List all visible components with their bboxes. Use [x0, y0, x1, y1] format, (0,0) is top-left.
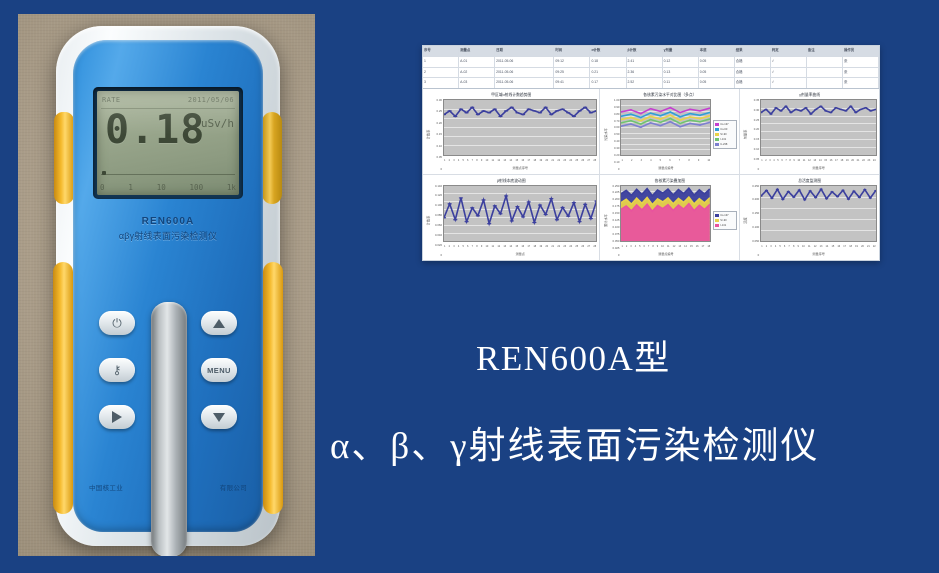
x-tick: 8 [476, 242, 477, 251]
data-point [640, 120, 642, 122]
data-point [839, 109, 842, 111]
data-point [487, 112, 491, 114]
table-cell [807, 78, 843, 88]
up-button[interactable] [201, 311, 237, 335]
table-header-cell: 判定 [771, 46, 807, 56]
legend-swatch [715, 123, 719, 126]
chart-x-ticks: 123456789101112131415161718 [620, 242, 711, 251]
data-point [829, 112, 832, 114]
data-point [630, 117, 632, 119]
key-icon: ⚷ [113, 364, 122, 376]
x-tick: 4 [773, 156, 774, 165]
y-tick: 0.140 [435, 185, 442, 188]
table-cell: 09:25 [554, 68, 590, 78]
data-point [498, 116, 502, 118]
x-tick: 12 [497, 242, 500, 251]
y-axis-text: 累计水平 [603, 214, 608, 227]
y-tick: 0.30 [437, 99, 442, 102]
data-point [555, 218, 559, 220]
x-tick: 6 [784, 242, 785, 251]
x-tick: 19 [539, 156, 542, 165]
x-tick: 4 [458, 156, 459, 165]
x-tick: 16 [521, 242, 524, 251]
y-tick: 0.15 [437, 133, 442, 136]
x-tick: 17 [527, 242, 530, 251]
data-point [679, 126, 681, 128]
x-tick: 14 [509, 242, 512, 251]
y-tick: 0.35 [754, 99, 759, 102]
x-tick: 2 [626, 242, 627, 251]
data-point [650, 112, 652, 114]
x-tick: 18 [707, 242, 710, 251]
data-point [640, 113, 642, 115]
y-tick: 1.00 [614, 99, 619, 102]
legend-swatch [715, 128, 719, 131]
y-tick: 0.60 [614, 126, 619, 129]
lcd-tick: 1 [128, 183, 133, 192]
data-point [660, 125, 662, 127]
x-tick: 28 [593, 242, 596, 251]
data-point [787, 190, 790, 192]
data-point [785, 105, 788, 107]
chart-x-ticks: 1234567891011121314151617181920212223242… [443, 242, 597, 251]
y-tick: 0.200 [612, 198, 619, 201]
data-point [583, 107, 587, 109]
table-header-cell: γ剂量 [663, 46, 699, 56]
data-point [566, 112, 570, 114]
data-point [815, 109, 818, 111]
x-tick: 18 [849, 242, 852, 251]
data-point [650, 116, 652, 118]
data-point [476, 214, 480, 216]
data-point [859, 109, 862, 111]
legend-label: Sr-90 [720, 133, 726, 136]
x-tick: 8 [688, 156, 689, 165]
data-point [555, 110, 559, 112]
key-button[interactable]: ⚷ [99, 358, 135, 382]
data-point [470, 107, 474, 109]
data-point [853, 190, 856, 192]
y-tick: 0.100 [612, 226, 619, 229]
data-point [679, 119, 681, 121]
device-branding: REN600A αβγ射线表面污染检测仪 [73, 216, 263, 242]
data-point [854, 112, 857, 114]
legend-label: Sr-90 [720, 219, 726, 222]
lcd-scale-ticks: 0 1 10 100 1k [100, 182, 236, 193]
data-point [660, 115, 662, 117]
x-tick: 12 [497, 156, 500, 165]
data-point [699, 124, 701, 126]
y-tick: 0.30 [754, 109, 759, 112]
y-tick: 0.175 [612, 205, 619, 208]
y-tick: 0 [618, 168, 620, 171]
data-point [699, 121, 701, 123]
data-point [572, 116, 576, 118]
x-tick: 17 [527, 156, 530, 165]
x-tick: 4 [458, 242, 459, 251]
data-point [459, 197, 463, 199]
y-tick: 0.060 [435, 224, 442, 227]
x-tick: 3 [453, 242, 454, 251]
data-point [459, 108, 463, 110]
x-tick: 11 [808, 242, 811, 251]
y-tick: 0.025 [612, 247, 619, 250]
x-tick: 1 [444, 242, 445, 251]
data-point [689, 113, 691, 115]
table-cell: 2.41 [627, 57, 663, 67]
data-point [820, 188, 823, 190]
data-point [538, 204, 542, 206]
x-tick: 15 [690, 242, 693, 251]
data-point [650, 108, 652, 110]
x-tick: 23 [867, 156, 870, 165]
data-point [527, 108, 531, 110]
y-tick: 0.080 [435, 214, 442, 217]
table-cell: 合格 [735, 57, 771, 67]
x-tick: 2 [449, 242, 450, 251]
data-point [699, 114, 701, 116]
x-tick: 22 [862, 156, 865, 165]
data-point [842, 189, 845, 191]
chart-body: 累计水平0.2500.2250.2000.1750.1500.1250.1000… [602, 185, 737, 258]
chart-plot-wrapper: 123456789101112131415161718测量点编号 [620, 185, 711, 258]
table-cell: 0.21 [590, 68, 626, 78]
chart-title: β射线本底波动图 [425, 178, 597, 185]
y-tick: 0 [758, 254, 760, 257]
data-point [776, 188, 779, 190]
data-point [470, 207, 474, 209]
data-point [630, 113, 632, 115]
table-cell: 2.52 [627, 78, 663, 88]
x-tick: 21 [857, 156, 860, 165]
lcd-status-left: RATE [102, 96, 120, 104]
y-axis-text: 污染水平 [603, 128, 608, 141]
x-tick: 22 [557, 242, 560, 251]
table-cell: √ [771, 68, 807, 78]
table-row: 2A-022011-05-0609:250.212.360.130.05合格√张 [423, 68, 879, 79]
x-tick: 7 [472, 156, 473, 165]
data-point [464, 220, 468, 222]
x-tick: 11 [667, 242, 670, 251]
table-header-cell: 日期 [495, 46, 554, 56]
table-header-cell: α计数 [590, 46, 626, 56]
data-point [844, 110, 847, 112]
x-tick: 19 [855, 242, 858, 251]
data-point [650, 122, 652, 124]
data-point [650, 119, 652, 121]
x-tick: 22 [873, 242, 876, 251]
data-point [780, 110, 783, 112]
table-cell: 合格 [735, 68, 771, 78]
x-tick: 20 [861, 242, 864, 251]
x-tick: 2 [631, 156, 632, 165]
x-tick: 7 [679, 156, 680, 165]
legend-swatch [715, 219, 719, 222]
chart-x-axis-label: 测量点 [443, 251, 597, 257]
x-tick: 10 [485, 242, 488, 251]
x-tick: 7 [785, 156, 786, 165]
chart-x-axis-label: 测量序号 [760, 251, 877, 257]
x-tick: 14 [826, 242, 829, 251]
x-tick: 26 [581, 156, 584, 165]
y-tick: 0.05 [754, 158, 759, 161]
lcd-unit-label: uSv/h [201, 117, 234, 130]
data-point [781, 198, 784, 200]
data-point [577, 110, 581, 112]
x-tick: 23 [563, 242, 566, 251]
y-tick: 0.225 [612, 191, 619, 194]
data-point [544, 213, 548, 215]
x-tick: 18 [533, 156, 536, 165]
y-tick: 0 [440, 254, 442, 257]
data-point [670, 114, 672, 116]
page-title-model: REN600A型 [476, 330, 671, 381]
x-tick: 14 [819, 156, 822, 165]
x-tick: 16 [830, 156, 833, 165]
x-tick: 10 [485, 156, 488, 165]
chart-x-ticks: 12345678910111213141516171819202122 [760, 242, 877, 251]
data-point [504, 195, 508, 197]
table-cell: 0.05 [699, 68, 735, 78]
x-tick: 6 [781, 156, 782, 165]
x-tick: 26 [581, 242, 584, 251]
data-point [670, 111, 672, 113]
data-point [660, 111, 662, 113]
lcd-bargraph-marker [102, 171, 106, 175]
x-tick: 18 [840, 156, 843, 165]
data-point [448, 110, 452, 112]
chart-plot-area [760, 185, 877, 243]
data-point [670, 107, 672, 109]
table-row: 3A-032011-05-0609:410.172.520.110.05合格√张 [423, 78, 879, 88]
x-tick: 5 [462, 242, 463, 251]
data-point [858, 196, 861, 198]
data-point [699, 118, 701, 120]
data-point [834, 107, 837, 109]
chart-title: 总活度监测图 [742, 178, 877, 185]
grip-bottom-left [53, 262, 73, 514]
data-point [515, 205, 519, 207]
x-tick: 13 [813, 156, 816, 165]
x-tick: 15 [831, 242, 834, 251]
x-tick: 25 [575, 242, 578, 251]
table-header-cell: 结果 [735, 46, 771, 56]
chart-body: 活度0.2500.2000.1500.1000.0500123456789101… [742, 185, 877, 258]
data-point [660, 118, 662, 120]
down-button[interactable] [201, 405, 237, 429]
chevron-down-icon [213, 413, 225, 422]
data-point [527, 201, 531, 203]
chart-x-ticks: 12345678910 [620, 156, 711, 165]
x-tick: 10 [797, 156, 800, 165]
x-tick: 3 [630, 242, 631, 251]
chart-plot-area [443, 99, 597, 156]
y-tick: 0.250 [752, 185, 759, 188]
x-tick: 17 [835, 156, 838, 165]
chart-title: 各核素污染水平对比图（多点） [602, 92, 737, 99]
chart-plot-area [760, 99, 877, 156]
legend-label: Co-60 [720, 128, 727, 131]
data-point [476, 114, 480, 116]
lcd-tick: 10 [157, 183, 166, 192]
data-point [532, 110, 536, 112]
y-tick: 0.150 [752, 212, 759, 215]
chart-x-axis-label: 测量点编号 [620, 165, 711, 171]
table-cell: √ [771, 57, 807, 67]
data-point [572, 201, 576, 203]
table-cell: A-02 [459, 68, 495, 78]
table-cell: A-03 [459, 78, 495, 88]
data-point [487, 222, 491, 224]
y-axis-text: 计数率 [426, 130, 431, 140]
data-point [790, 112, 793, 114]
legend-swatch [715, 214, 719, 217]
data-point [493, 108, 497, 110]
x-tick: 27 [587, 242, 590, 251]
x-tick: 16 [837, 242, 840, 251]
data-point [549, 197, 553, 199]
chart-row-bottom: β射线本底波动图计数率0.1400.1200.1000.0800.0600.04… [423, 175, 879, 261]
line-series [761, 106, 876, 114]
data-point [825, 197, 828, 199]
x-tick: 10 [802, 242, 805, 251]
table-cell: 张 [843, 57, 879, 67]
data-point [679, 116, 681, 118]
line-series [621, 108, 710, 114]
data-point [800, 110, 803, 112]
area-series [621, 203, 710, 241]
x-tick: 12 [814, 242, 817, 251]
chart-row-top: 甲区域α射线计数趋势图计数率0.300.250.200.150.100.0501… [423, 89, 879, 175]
x-tick: 16 [696, 242, 699, 251]
data-point [792, 196, 795, 198]
table-cell: 2 [423, 68, 459, 78]
table-header-cell: 序号 [423, 46, 459, 56]
chart-plot-area [620, 99, 711, 156]
data-point [464, 112, 468, 114]
chart-title: γ剂量率曲线 [742, 92, 877, 99]
legend-item: U-238 [715, 142, 735, 147]
x-tick: 16 [521, 156, 524, 165]
table-header-cell: β计数 [627, 46, 663, 56]
data-point [594, 200, 596, 202]
x-tick: 4 [775, 242, 776, 251]
table-cell: 09:12 [554, 57, 590, 67]
x-tick: 5 [779, 242, 780, 251]
gridline [761, 155, 876, 156]
y-tick: 0.150 [612, 212, 619, 215]
gridline [761, 241, 876, 242]
chevron-up-icon [213, 319, 225, 328]
legend-item: I-131 [715, 223, 735, 228]
y-tick: 0.100 [435, 204, 442, 207]
y-tick: 0.050 [612, 240, 619, 243]
data-point [824, 110, 827, 112]
chart-series-svg [444, 100, 596, 155]
x-tick: 21 [867, 242, 870, 251]
x-tick: 1 [444, 156, 445, 165]
data-point [521, 114, 525, 116]
gridline [444, 155, 596, 156]
device-footnote: 中国核工业 有限公司 [73, 482, 263, 492]
x-tick: 11 [803, 156, 806, 165]
table-row: 1A-012011-05-0609:120.182.410.120.05合格√张 [423, 57, 879, 68]
line-series [761, 189, 876, 200]
y-tick: 0.10 [754, 148, 759, 151]
chart-alpha-trend: 甲区域α射线计数趋势图计数率0.300.250.200.150.100.0501… [423, 89, 600, 175]
lcd-bargraph-line [101, 174, 235, 175]
chart-y-ticks: 0.300.250.200.150.100.050 [431, 99, 443, 171]
chart-y-ticks: 0.350.300.250.200.150.100.050 [748, 99, 760, 171]
legend-swatch [715, 224, 719, 227]
x-tick: 13 [820, 242, 823, 251]
chart-series-svg [761, 186, 876, 242]
power-button[interactable]: ⏻ [99, 311, 135, 335]
y-tick: 0.80 [614, 113, 619, 116]
table-cell: 0.18 [590, 57, 626, 67]
data-point [670, 121, 672, 123]
data-point [589, 217, 593, 219]
table-cell: 1 [423, 57, 459, 67]
x-tick: 15 [515, 156, 518, 165]
x-tick: 3 [770, 242, 771, 251]
menu-button[interactable]: MENU [201, 358, 237, 382]
data-point [532, 221, 536, 223]
y-tick: 0.075 [612, 233, 619, 236]
data-point [640, 117, 642, 119]
table-cell: 0.12 [663, 57, 699, 67]
chart-grid: 甲区域α射线计数趋势图计数率0.300.250.200.150.100.0501… [423, 89, 879, 260]
table-header-cell: 本底 [699, 46, 735, 56]
legend-label: I-131 [720, 138, 726, 141]
data-point [630, 109, 632, 111]
slide-root: RATE 2011/05/06 0.18 uSv/h 0 1 [0, 0, 939, 573]
data-point [448, 203, 452, 205]
menu-button-label: MENU [207, 366, 231, 375]
data-point [689, 123, 691, 125]
product-photograph: RATE 2011/05/06 0.18 uSv/h 0 1 [18, 14, 315, 556]
x-tick: 21 [551, 156, 554, 165]
table-header-cell: 备注 [807, 46, 843, 56]
table-cell [807, 57, 843, 67]
line-series [444, 195, 596, 223]
table-cell: 2.36 [627, 68, 663, 78]
lcd-tick: 1k [227, 183, 236, 192]
data-point [849, 105, 852, 107]
y-tick: 0.10 [614, 161, 619, 164]
chart-x-axis-label: 测量点序号 [443, 165, 597, 171]
legend-swatch [715, 138, 719, 141]
x-tick: 27 [587, 156, 590, 165]
chart-body: 剂量率0.350.300.250.200.150.100.05012345678… [742, 99, 877, 171]
x-tick: 21 [551, 242, 554, 251]
table-cell: 09:41 [554, 78, 590, 88]
y-tick: 0.050 [752, 240, 759, 243]
play-button[interactable] [99, 405, 135, 429]
data-point [805, 107, 808, 109]
x-tick: 9 [481, 242, 482, 251]
table-cell: 2011-05-06 [495, 78, 554, 88]
x-tick: 1 [621, 156, 622, 165]
x-tick: 10 [707, 156, 710, 165]
lcd-reading-value: 0.18 [105, 110, 205, 150]
data-point [453, 218, 457, 220]
chart-x-axis-label: 测量序号 [760, 165, 877, 171]
page-title-description: α、β、γ射线表面污染检测仪 [330, 415, 820, 469]
chart-x-axis-label: 测量点编号 [620, 251, 711, 257]
chart-x-ticks: 1234567891011121314151617181920212223242… [443, 156, 597, 165]
data-point [689, 119, 691, 121]
